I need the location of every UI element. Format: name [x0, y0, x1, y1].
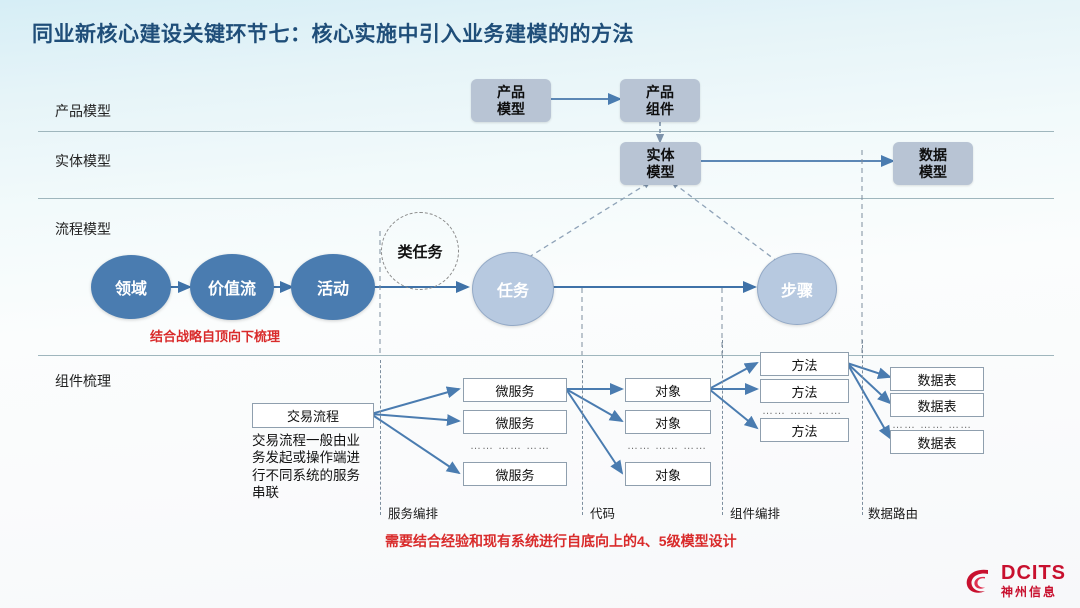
column-divider-3: [722, 340, 723, 515]
box-microservice-1[interactable]: 微服务: [463, 378, 567, 402]
box-data-model[interactable]: 数据 模型: [893, 142, 973, 185]
annotation-top-down: 结合战略自顶向下梳理: [150, 326, 280, 345]
ellipsis-microservices: …… …… ……: [470, 440, 550, 452]
box-product-model-line1: 产品: [497, 84, 525, 100]
column-label-code: 代码: [590, 503, 615, 522]
transaction-flow-description: 交易流程一般由业务发起或操作端进行不同系统的服务串联: [252, 432, 372, 501]
annotation-bottom-up: 需要结合经验和现有系统进行自底向上的4、5级模型设计: [385, 531, 737, 551]
circle-task-class[interactable]: 类任务: [381, 212, 459, 290]
column-label-service-orchestration: 服务编排: [388, 503, 438, 522]
circle-value-stream[interactable]: 价值流: [190, 254, 274, 320]
ellipsis-methods: …… …… ……: [762, 405, 842, 417]
box-product-component-line2: 组件: [646, 101, 674, 117]
box-microservice-3[interactable]: 微服务: [463, 462, 567, 486]
box-data-model-line1: 数据: [919, 147, 947, 163]
box-transaction-flow[interactable]: 交易流程: [252, 403, 374, 428]
divider-entity-process: [38, 198, 1054, 199]
page-title: 同业新核心建设关键环节七：核心实施中引入业务建模的的方法: [32, 18, 634, 48]
row-label-component-sorting: 组件梳理: [55, 371, 111, 391]
box-method-3[interactable]: 方法: [760, 418, 849, 442]
row-label-product-model: 产品模型: [55, 101, 111, 121]
column-label-component-orchestration: 组件编排: [730, 503, 780, 522]
box-data-table-2[interactable]: 数据表: [890, 393, 984, 417]
box-product-model[interactable]: 产品 模型: [471, 79, 551, 122]
divider-product-entity: [38, 131, 1054, 132]
box-object-1[interactable]: 对象: [625, 378, 711, 402]
circle-step[interactable]: 步骤: [757, 253, 837, 325]
box-entity-model[interactable]: 实体 模型: [620, 142, 701, 185]
box-microservice-2[interactable]: 微服务: [463, 410, 567, 434]
box-product-component-line1: 产品: [646, 84, 674, 100]
column-divider-1: [380, 360, 381, 515]
dcits-mark-icon: [961, 564, 995, 598]
box-method-2[interactable]: 方法: [760, 379, 849, 403]
box-product-model-line2: 模型: [497, 101, 525, 117]
box-data-table-1[interactable]: 数据表: [890, 367, 984, 391]
company-logo: DCITS 神州信息: [961, 563, 1066, 598]
box-object-3[interactable]: 对象: [625, 462, 711, 486]
row-label-process-model: 流程模型: [55, 219, 111, 239]
circle-domain[interactable]: 领域: [91, 255, 171, 319]
divider-process-component: [38, 355, 1054, 356]
circle-task[interactable]: 任务: [472, 252, 554, 326]
circle-activity[interactable]: 活动: [291, 254, 375, 320]
column-divider-2: [582, 360, 583, 515]
column-divider-4: [862, 340, 863, 515]
ellipsis-objects: …… …… ……: [627, 440, 707, 452]
box-entity-model-line2: 模型: [647, 164, 675, 180]
row-label-entity-model: 实体模型: [55, 151, 111, 171]
logo-name-cn: 神州信息: [1001, 586, 1066, 598]
box-object-2[interactable]: 对象: [625, 410, 711, 434]
box-data-model-line2: 模型: [919, 164, 947, 180]
box-entity-model-line1: 实体: [647, 147, 675, 163]
box-product-component[interactable]: 产品 组件: [620, 79, 700, 122]
box-data-table-3[interactable]: 数据表: [890, 430, 984, 454]
box-method-1[interactable]: 方法: [760, 352, 849, 376]
logo-name: DCITS: [1001, 563, 1066, 583]
column-label-data-routing: 数据路由: [868, 503, 918, 522]
slide-root: 同业新核心建设关键环节七：核心实施中引入业务建模的的方法 产品模型 实体模型 流…: [0, 0, 1080, 608]
